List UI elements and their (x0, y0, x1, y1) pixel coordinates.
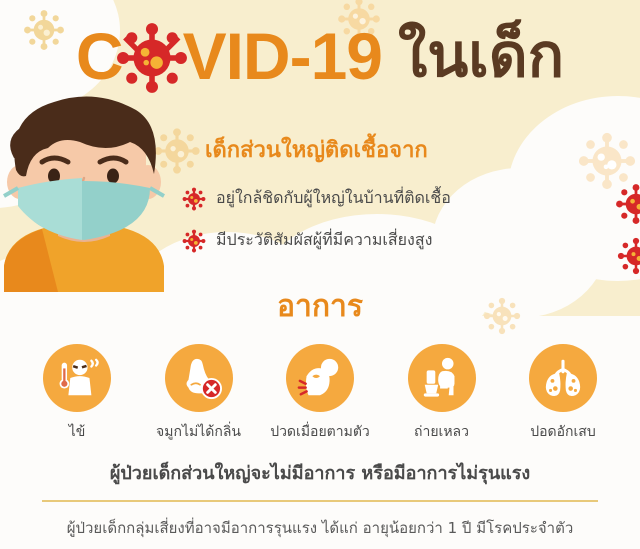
footer-note-small: ผู้ป่วยเด็กกลุ่มเสี่ยงที่อาจมีอาการรุนแร… (0, 516, 640, 540)
footer-note-strong: ผู้ป่วยเด็กส่วนใหญ่จะไม่มีอาการ หรือมีอา… (0, 458, 640, 487)
poster-title: C VI (0, 18, 640, 94)
list-item-label: อยู่ใกล้ชิดกับผู้ใหญ่ในบ้านที่ติดเชื้อ (216, 186, 451, 211)
list-item: มีประวัติสัมผัสผู้ที่มีความเสี่ยงสูง (182, 228, 622, 253)
symptom-item-no-smell: จมูกไม่ได้กลิ่น (144, 344, 254, 443)
body-ache-icon (286, 344, 354, 412)
infected-from-list: อยู่ใกล้ชิดกับผู้ใหญ่ในบ้านที่ติดเชื้อ (182, 186, 622, 270)
masked-child-illustration (0, 96, 172, 292)
symptom-label: ถ่ายเหลว (414, 421, 469, 443)
symptom-label: ไข้ (69, 421, 86, 443)
divider (42, 500, 598, 502)
symptom-item-diarrhea: ถ่ายเหลว (387, 344, 497, 443)
infected-from-heading: เด็กส่วนใหญ่ติดเชื้อจาก (205, 132, 535, 167)
symptoms-list: ไข้ จมูกไม่ได้กลิ่น (0, 344, 640, 443)
infographic-poster: C VI (0, 0, 640, 549)
diarrhea-toilet-icon (408, 344, 476, 412)
symptom-label: ปวดเมื่อยตามตัว (270, 421, 370, 443)
symptoms-heading: อาการ (0, 283, 640, 330)
symptom-label: ปอดอักเสบ (530, 421, 596, 443)
virus-bullet-icon (182, 187, 206, 211)
virus-bullet-icon (182, 229, 206, 253)
lungs-icon (529, 344, 597, 412)
virus-icon (115, 21, 189, 95)
list-item-label: มีประวัติสัมผัสผู้ที่มีความเสี่ยงสูง (216, 228, 432, 253)
list-item: อยู่ใกล้ชิดกับผู้ใหญ่ในบ้านที่ติดเชื้อ (182, 186, 622, 211)
title-text-vid: VID-19 (183, 23, 382, 89)
symptom-item-pneumonia: ปอดอักเสบ (508, 344, 618, 443)
fever-icon (43, 344, 111, 412)
nose-no-smell-icon (165, 344, 233, 412)
title-text-thai: ในเด็ก (398, 26, 564, 86)
symptom-item-body-ache: ปวดเมื่อยตามตัว (265, 344, 375, 443)
symptom-label: จมูกไม่ได้กลิ่น (156, 421, 241, 443)
symptom-item-fever: ไข้ (22, 344, 132, 443)
